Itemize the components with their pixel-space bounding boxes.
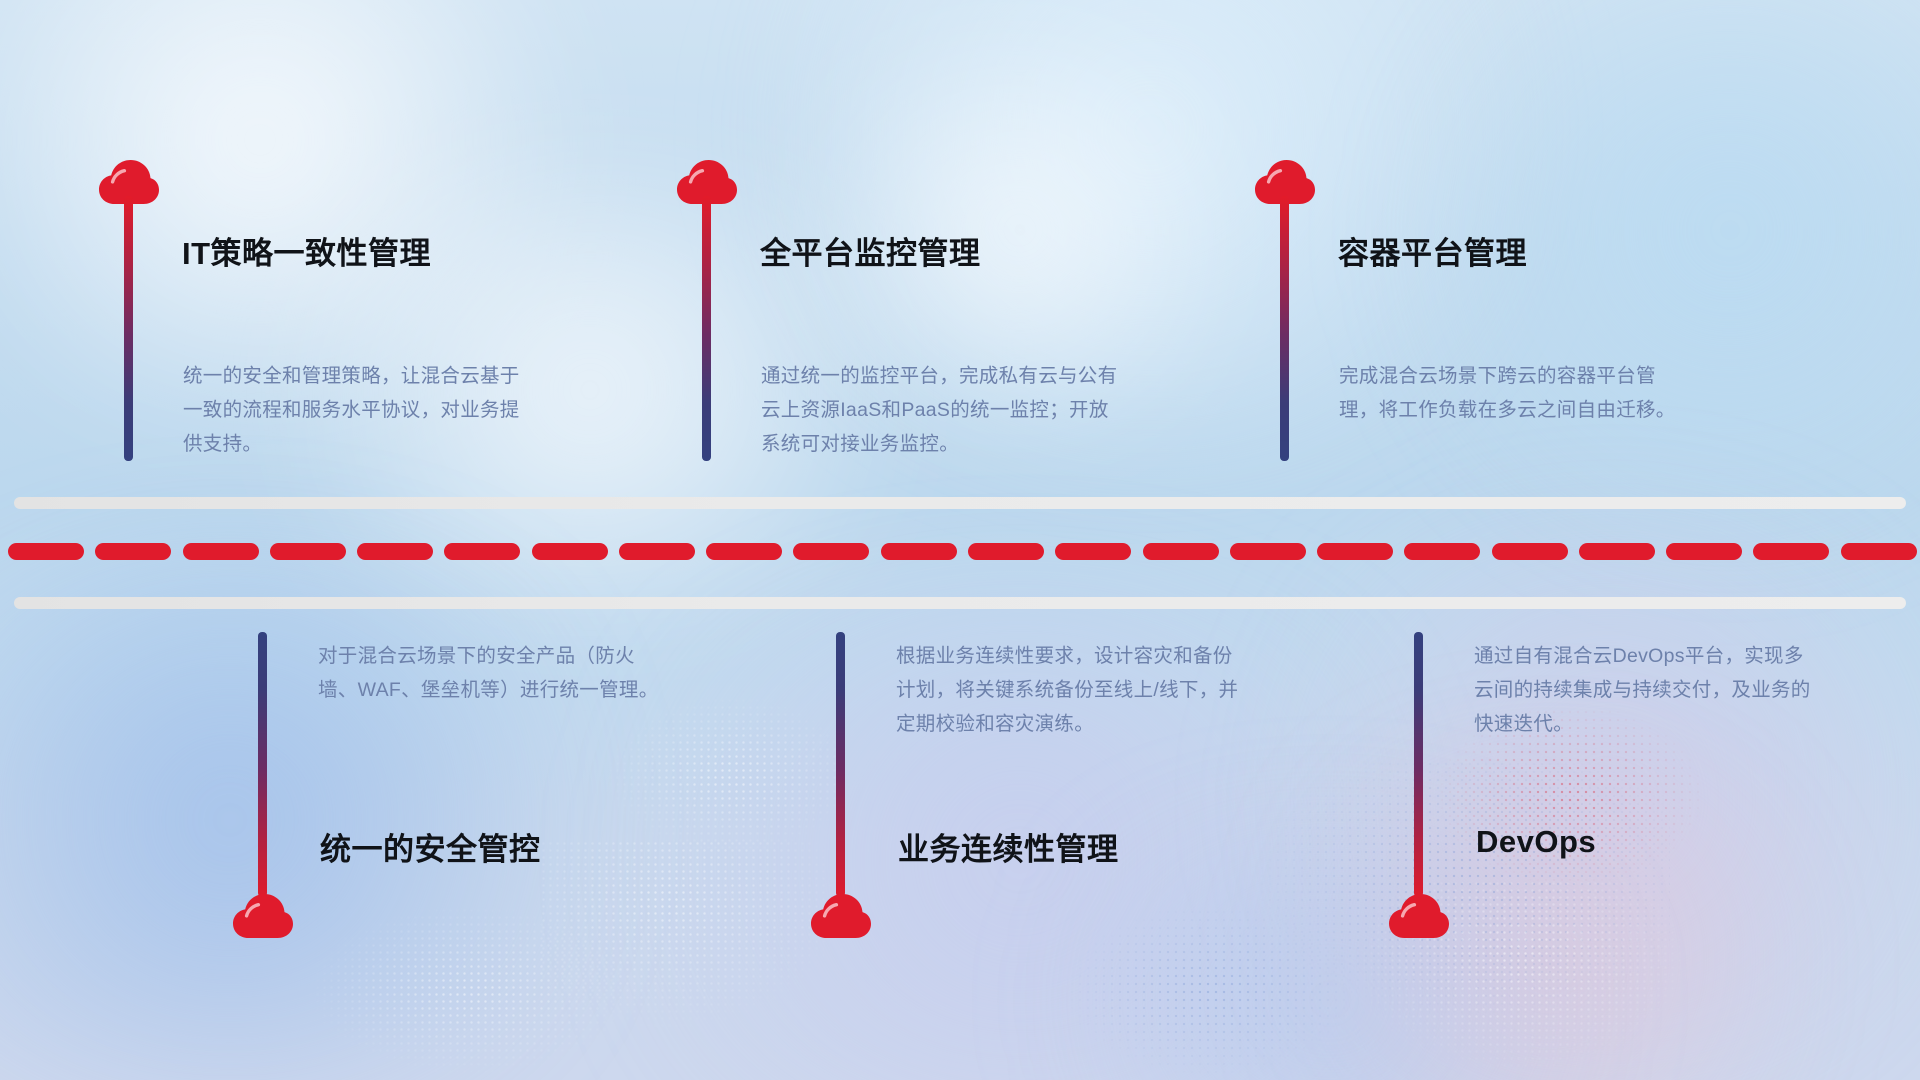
divider-dash <box>881 543 957 560</box>
divider-dash <box>1753 543 1829 560</box>
divider-dash <box>270 543 346 560</box>
divider-dash <box>1143 543 1219 560</box>
connector-stem <box>702 196 711 461</box>
connector-stem <box>1280 196 1289 461</box>
cloud-icon <box>1388 893 1450 939</box>
dot-texture <box>300 900 640 1080</box>
feature-description: 通过统一的监控平台，完成私有云与公有云上资源IaaS和PaaS的统一监控；开放系… <box>761 359 1121 461</box>
divider-dash <box>1579 543 1655 560</box>
divider-dash <box>968 543 1044 560</box>
divider-dash <box>183 543 259 560</box>
feature-description: 通过自有混合云DevOps平台，实现多云间的持续集成与持续交付，及业务的快速迭代… <box>1474 639 1819 741</box>
divider-dash <box>1317 543 1393 560</box>
divider-dash <box>1492 543 1568 560</box>
divider-dash <box>444 543 520 560</box>
divider-dash <box>1230 543 1306 560</box>
feature-title: 业务连续性管理 <box>898 824 1119 869</box>
dashed-road-divider <box>0 470 1920 620</box>
dot-texture <box>600 690 860 860</box>
feature-title: IT策略一致性管理 <box>182 228 431 273</box>
connector-stem <box>258 632 267 897</box>
feature-description: 统一的安全和管理策略，让混合云基于一致的流程和服务水平协议，对业务提供支持。 <box>183 359 528 461</box>
divider-dash <box>1404 543 1480 560</box>
divider-dash <box>1055 543 1131 560</box>
feature-title: 全平台监控管理 <box>760 228 981 273</box>
feature-description: 根据业务连续性要求，设计容灾和备份计划，将关键系统备份至线上/线下，并定期校验和… <box>896 639 1241 741</box>
feature-description: 完成混合云场景下跨云的容器平台管理，将工作负载在多云之间自由迁移。 <box>1339 359 1684 427</box>
connector-stem <box>1414 632 1423 897</box>
divider-dash <box>357 543 433 560</box>
divider-dashes <box>0 543 1920 560</box>
feature-title: 统一的安全管控 <box>320 824 541 869</box>
cloud-icon <box>810 893 872 939</box>
divider-dash <box>619 543 695 560</box>
divider-rail-bottom <box>14 597 1906 609</box>
feature-description: 对于混合云场景下的安全产品（防火墙、WAF、堡垒机等）进行统一管理。 <box>318 639 663 707</box>
divider-dash <box>1841 543 1917 560</box>
cloud-icon <box>232 893 294 939</box>
divider-dash <box>793 543 869 560</box>
divider-dash <box>95 543 171 560</box>
feature-title: DevOps <box>1476 824 1596 860</box>
divider-dash <box>706 543 782 560</box>
feature-title: 容器平台管理 <box>1338 228 1527 273</box>
divider-dash <box>8 543 84 560</box>
connector-stem <box>124 196 133 461</box>
dot-texture <box>1060 900 1360 1080</box>
connector-stem <box>836 632 845 897</box>
divider-dash <box>532 543 608 560</box>
divider-rail-top <box>14 497 1906 509</box>
divider-dash <box>1666 543 1742 560</box>
